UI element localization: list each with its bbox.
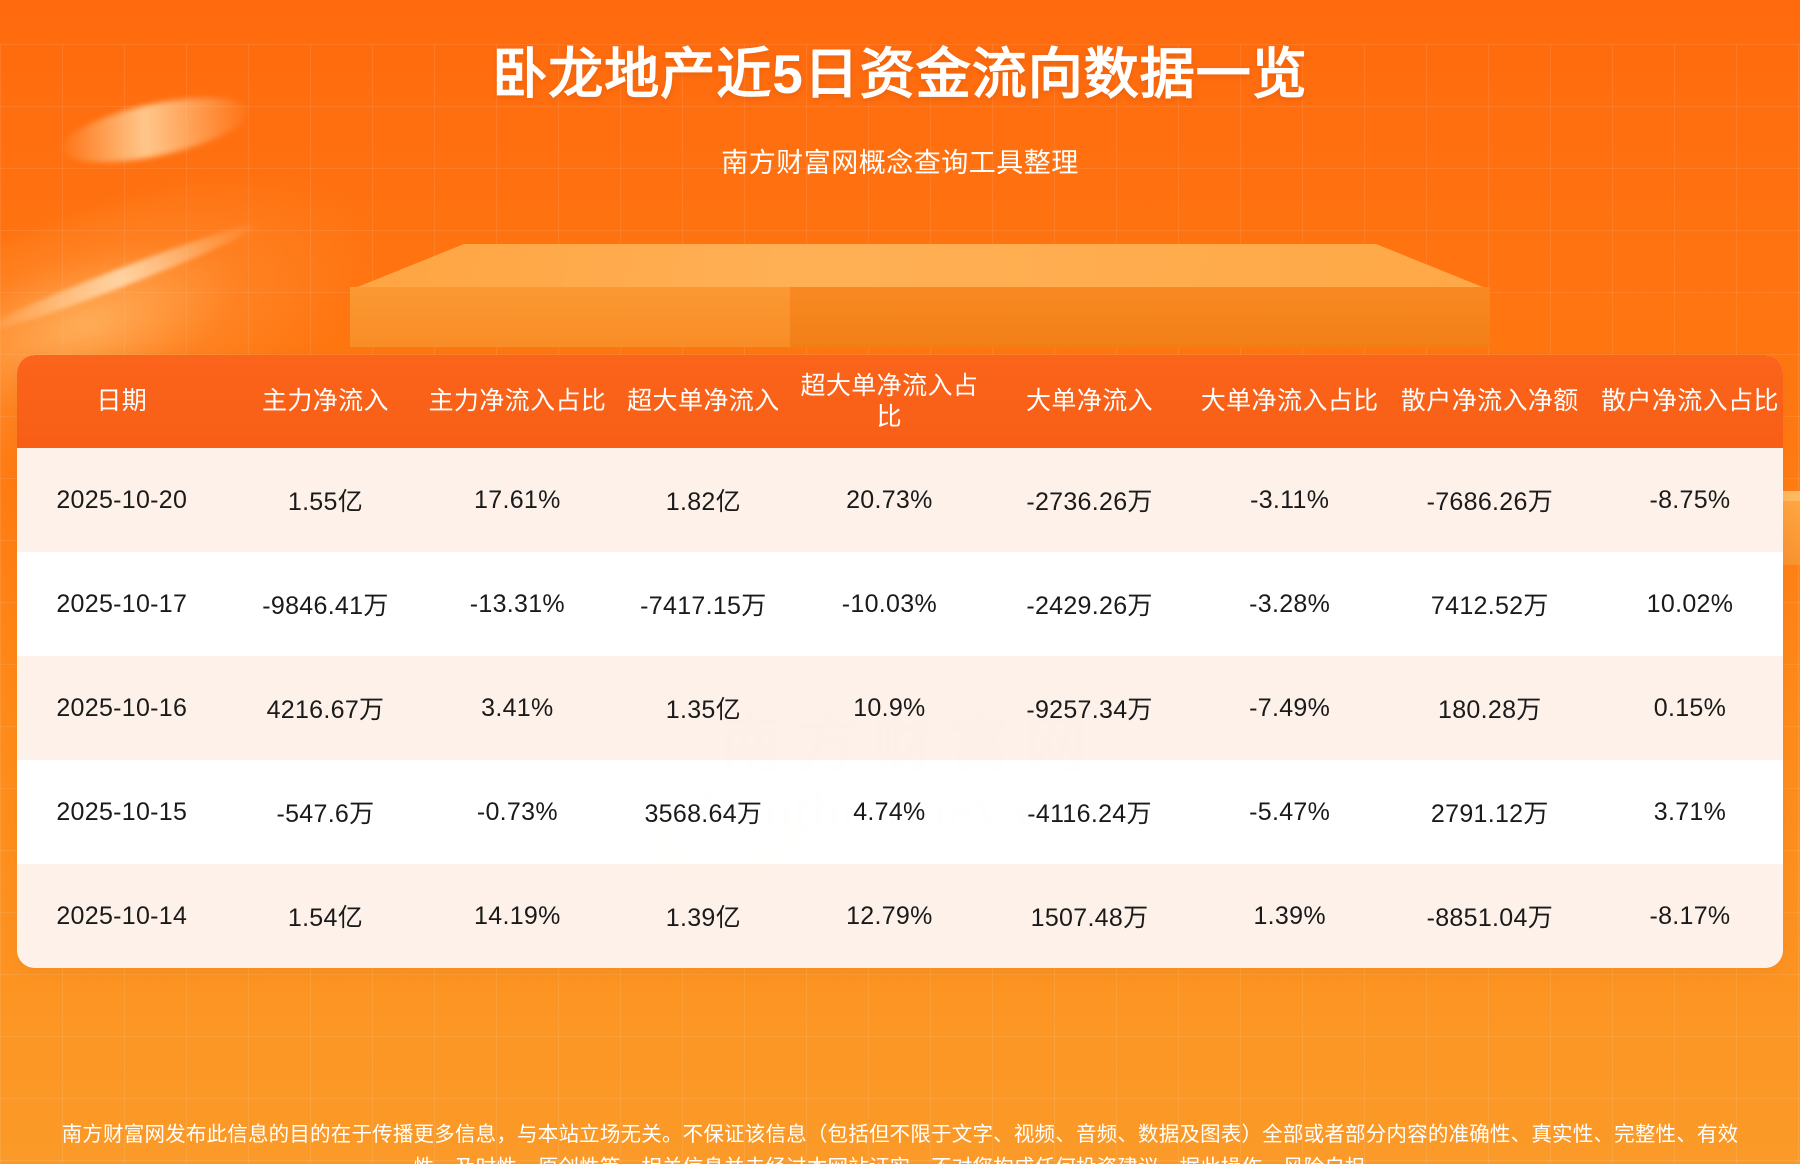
cell-lg-pct: -3.11% [1197, 448, 1383, 552]
col-header-xl-pct[interactable]: 超大单净流入占比 [796, 355, 982, 448]
cell-xl-pct: 4.74% [796, 760, 982, 864]
table-row: 2025-10-14 1.54亿 14.19% 1.39亿 12.79% 150… [17, 864, 1783, 968]
cell-retail-net: 7412.52万 [1383, 552, 1597, 656]
table-header-row: 日期 主力净流入 主力净流入占比 超大单净流入 超大单净流入占比 大单净流入 大… [17, 355, 1783, 448]
cell-xl-pct: 12.79% [796, 864, 982, 968]
cell-main-pct: 17.61% [424, 448, 610, 552]
col-header-retail-net[interactable]: 散户净流入净额 [1383, 355, 1597, 448]
cell-retail-pct: 10.02% [1597, 552, 1783, 656]
cell-main-pct: -13.31% [424, 552, 610, 656]
cell-lg-net: -9257.34万 [982, 656, 1196, 760]
cell-xl-net: 1.82亿 [610, 448, 796, 552]
cell-xl-net: -7417.15万 [610, 552, 796, 656]
cell-retail-pct: 0.15% [1597, 656, 1783, 760]
cell-date: 2025-10-16 [17, 656, 227, 760]
cell-xl-net: 3568.64万 [610, 760, 796, 864]
col-header-main-net[interactable]: 主力净流入 [227, 355, 425, 448]
cell-lg-net: 1507.48万 [982, 864, 1196, 968]
table-row: 2025-10-15 -547.6万 -0.73% 3568.64万 4.74%… [17, 760, 1783, 864]
cell-retail-pct: 3.71% [1597, 760, 1783, 864]
podium-main-shadow [790, 287, 1490, 347]
table-row: 2025-10-16 4216.67万 3.41% 1.35亿 10.9% -9… [17, 656, 1783, 760]
podium-main-top [350, 244, 1490, 290]
cell-lg-pct: -7.49% [1197, 656, 1383, 760]
cell-main-net: 1.54亿 [227, 864, 425, 968]
col-header-retail-pct[interactable]: 散户净流入占比 [1597, 355, 1783, 448]
cell-retail-net: 2791.12万 [1383, 760, 1597, 864]
cell-date: 2025-10-15 [17, 760, 227, 864]
cell-main-net: -547.6万 [227, 760, 425, 864]
cell-retail-net: 180.28万 [1383, 656, 1597, 760]
cell-xl-pct: 10.9% [796, 656, 982, 760]
cell-main-net: -9846.41万 [227, 552, 425, 656]
cell-retail-pct: -8.17% [1597, 864, 1783, 968]
data-table-card: 南方财富网 Southmoney.com 日期 主力净流入 主力净流入占比 超大… [17, 355, 1783, 968]
col-header-lg-pct[interactable]: 大单净流入占比 [1197, 355, 1383, 448]
table-body: 2025-10-20 1.55亿 17.61% 1.82亿 20.73% -27… [17, 448, 1783, 968]
cell-retail-pct: -8.75% [1597, 448, 1783, 552]
page-title: 卧龙地产近5日资金流向数据一览 [0, 44, 1800, 105]
background-streak-mid [0, 216, 263, 340]
podium-decoration [0, 239, 1800, 369]
cell-main-net: 4216.67万 [227, 656, 425, 760]
cell-main-pct: 14.19% [424, 864, 610, 968]
col-header-lg-net[interactable]: 大单净流入 [982, 355, 1196, 448]
cell-retail-net: -7686.26万 [1383, 448, 1597, 552]
cell-lg-net: -4116.24万 [982, 760, 1196, 864]
cell-main-pct: -0.73% [424, 760, 610, 864]
cell-lg-pct: -3.28% [1197, 552, 1383, 656]
cell-xl-net: 1.39亿 [610, 864, 796, 968]
cell-retail-net: -8851.04万 [1383, 864, 1597, 968]
col-header-date[interactable]: 日期 [17, 355, 227, 448]
fund-flow-table: 日期 主力净流入 主力净流入占比 超大单净流入 超大单净流入占比 大单净流入 大… [17, 355, 1783, 968]
page-subtitle: 南方财富网概念查询工具整理 [0, 141, 1800, 180]
cell-lg-pct: -5.47% [1197, 760, 1383, 864]
cell-xl-net: 1.35亿 [610, 656, 796, 760]
table-header: 日期 主力净流入 主力净流入占比 超大单净流入 超大单净流入占比 大单净流入 大… [17, 355, 1783, 448]
table-row: 2025-10-20 1.55亿 17.61% 1.82亿 20.73% -27… [17, 448, 1783, 552]
podium-main-front [350, 287, 1490, 347]
cell-lg-net: -2429.26万 [982, 552, 1196, 656]
cell-lg-pct: 1.39% [1197, 864, 1383, 968]
table-row: 2025-10-17 -9846.41万 -13.31% -7417.15万 -… [17, 552, 1783, 656]
cell-date: 2025-10-14 [17, 864, 227, 968]
cell-lg-net: -2736.26万 [982, 448, 1196, 552]
cell-date: 2025-10-17 [17, 552, 227, 656]
cell-date: 2025-10-20 [17, 448, 227, 552]
col-header-main-pct[interactable]: 主力净流入占比 [424, 355, 610, 448]
cell-xl-pct: 20.73% [796, 448, 982, 552]
disclaimer: 南方财富网发布此信息的目的在于传播更多信息，与本站立场无关。不保证该信息（包括但… [0, 1118, 1800, 1164]
disclaimer-line-2: 性、及时性、原创性等。相关信息并未经过本网站证实，不对您构成任何投资建议，据此操… [10, 1151, 1790, 1164]
page-header: 卧龙地产近5日资金流向数据一览 南方财富网概念查询工具整理 [0, 44, 1800, 180]
cell-xl-pct: -10.03% [796, 552, 982, 656]
cell-main-pct: 3.41% [424, 656, 610, 760]
col-header-xl-net[interactable]: 超大单净流入 [610, 355, 796, 448]
disclaimer-line-1: 南方财富网发布此信息的目的在于传播更多信息，与本站立场无关。不保证该信息（包括但… [10, 1118, 1790, 1151]
cell-main-net: 1.55亿 [227, 448, 425, 552]
